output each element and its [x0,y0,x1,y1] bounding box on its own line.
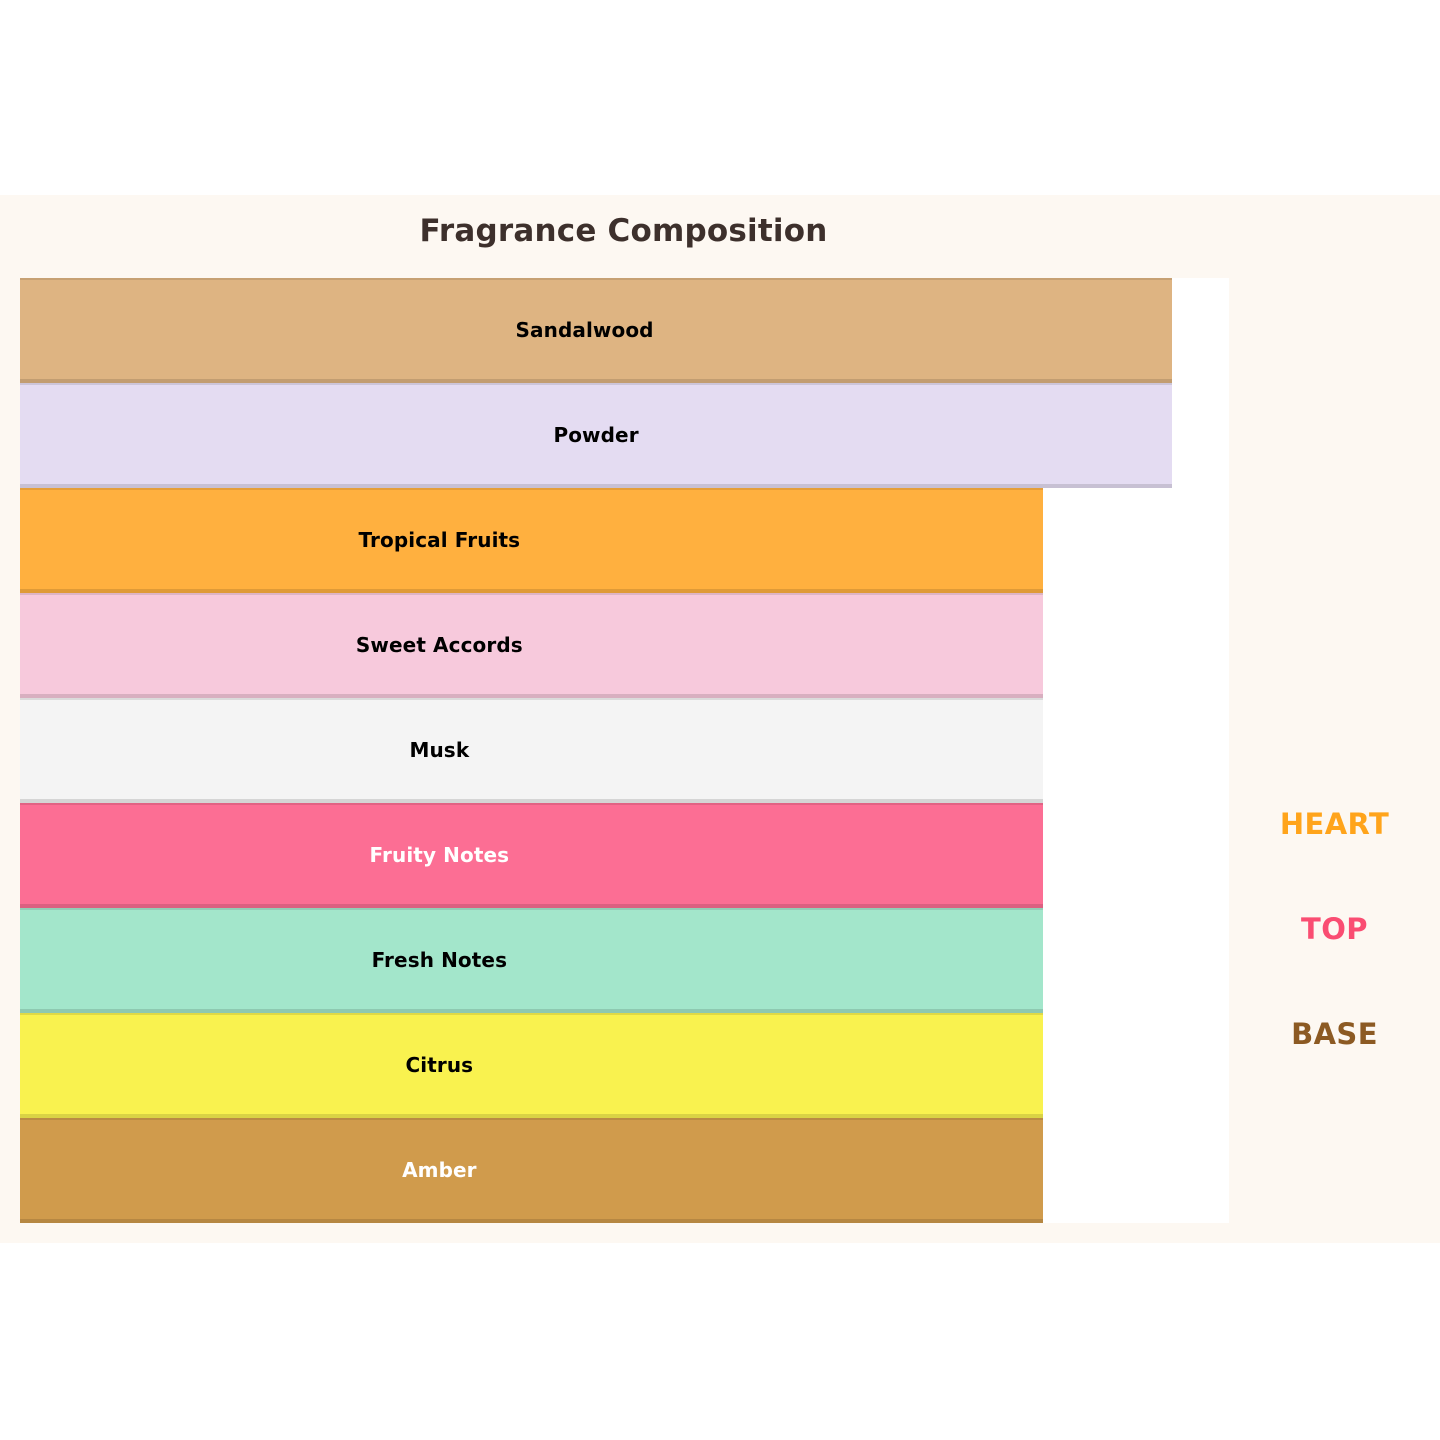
bar-row: Amber [20,1118,1229,1223]
bar-row: Fruity Notes [20,803,1229,908]
bar-row: Fresh Notes [20,908,1229,1013]
bar-row: Powder [20,383,1229,488]
bar-segment[interactable]: Fresh Notes [20,908,1043,1013]
bar-segment[interactable]: Musk [20,698,1043,803]
bar-label: Musk [409,738,469,762]
bar-row: Citrus [20,1013,1229,1118]
bar-label: Citrus [405,1053,473,1077]
bar-label: Amber [402,1158,477,1182]
bar-label: Powder [553,423,638,447]
bar-row: Sweet Accords [20,593,1229,698]
legend-item-top[interactable]: TOP [1229,912,1440,946]
bar-label: Fresh Notes [372,948,508,972]
bar-label: Sweet Accords [356,633,523,657]
legend-item-base[interactable]: BASE [1229,1017,1440,1051]
page-title: Fragrance Composition [0,213,1247,249]
bar-label: Tropical Fruits [358,528,520,552]
bar-row: Tropical Fruits [20,488,1229,593]
bar-segment[interactable]: Sandalwood [20,278,1172,383]
bar-label: Sandalwood [516,318,654,342]
bar-segment[interactable]: Fruity Notes [20,803,1043,908]
bar-row: Musk [20,698,1229,803]
legend-item-heart[interactable]: HEART [1229,807,1440,841]
bar-segment[interactable]: Citrus [20,1013,1043,1118]
bar-segment[interactable]: Tropical Fruits [20,488,1043,593]
bar-label: Fruity Notes [370,843,510,867]
figure-canvas: Fragrance Composition SandalwoodPowderTr… [0,195,1440,1243]
bar-segment[interactable]: Powder [20,383,1172,488]
bar-row: Sandalwood [20,278,1229,383]
legend: HEARTTOPBASE [1229,278,1440,1223]
bar-segment[interactable]: Sweet Accords [20,593,1043,698]
bar-segment[interactable]: Amber [20,1118,1043,1223]
